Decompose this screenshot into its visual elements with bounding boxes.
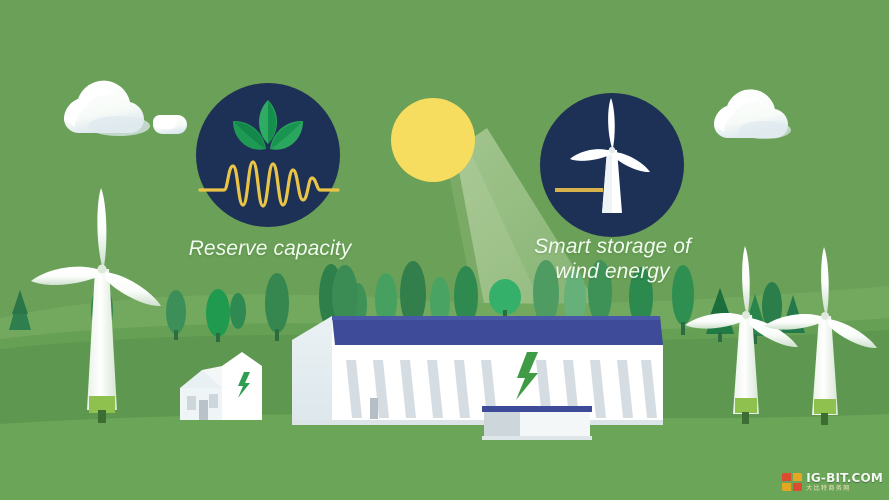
tree — [230, 293, 246, 329]
smart-storage-icon-group[interactable] — [540, 93, 684, 237]
illustration-canvas: Reserve capacity Smart storage of wind e… — [0, 0, 889, 500]
watermark-text: IG-BIT.COM 大比特商务网 — [806, 472, 883, 492]
ground-front-lawn — [0, 414, 889, 500]
warehouse-side-door — [370, 398, 378, 419]
watermark-title: IG-BIT.COM — [806, 472, 883, 484]
watermark-logo-icon — [782, 473, 802, 491]
reserve-capacity-icon-group[interactable] — [196, 83, 340, 227]
watermark-subtitle: 大比特商务网 — [806, 486, 883, 492]
smart-storage-label: Smart storage of wind energy — [505, 234, 720, 284]
warehouse-roof — [332, 316, 663, 345]
icon-ground-line — [555, 188, 603, 192]
house-door — [199, 400, 208, 420]
sun — [391, 98, 475, 182]
front-platform — [482, 406, 592, 440]
site-watermark: IG-BIT.COM 大比特商务网 — [782, 471, 883, 493]
cloud-left-small — [153, 115, 187, 134]
reserve-capacity-label: Reserve capacity — [175, 236, 365, 261]
battery-storage-warehouse — [292, 316, 663, 425]
energy-storage-illustration — [0, 0, 889, 500]
